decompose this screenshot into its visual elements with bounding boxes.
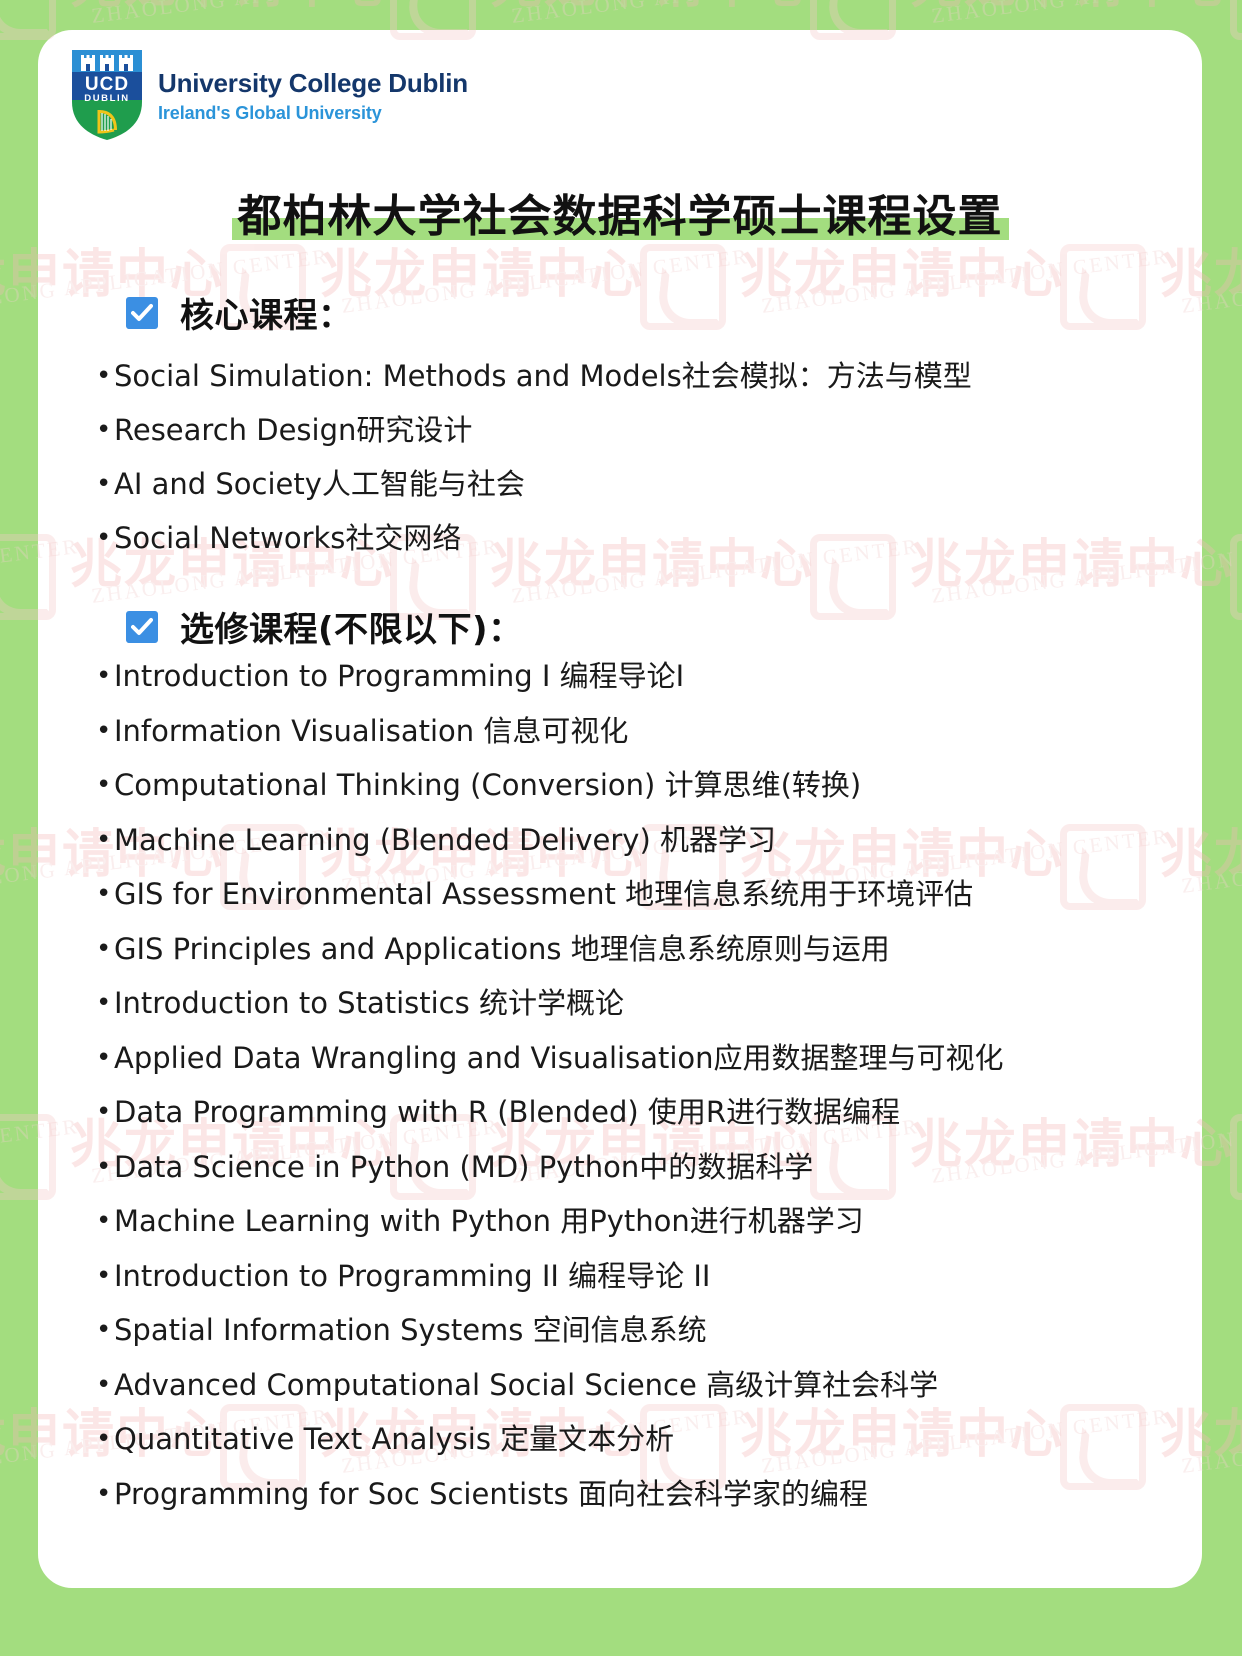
ucd-name-block: University College Dublin Ireland's Glob… xyxy=(158,63,468,125)
bullet-icon: • xyxy=(96,771,114,798)
list-item-label: Introduction to Statistics 统计学概论 xyxy=(114,989,1176,1018)
university-tagline: Ireland's Global University xyxy=(158,102,468,125)
list-item-label: Spatial Information Systems 空间信息系统 xyxy=(114,1316,1176,1345)
list-item-label: Social Simulation: Methods and Models社会模… xyxy=(114,362,1176,391)
watermark-logo-icon xyxy=(1230,1114,1242,1200)
list-item-label: Machine Learning (Blended Delivery) 机器学习 xyxy=(114,826,1176,855)
page-title-wrap: 都柏林大学社会数据科学硕士课程设置 xyxy=(38,190,1202,244)
list-item: •Social Networks社交网络 xyxy=(96,524,1176,578)
list-item-label: AI and Society人工智能与社会 xyxy=(114,470,1176,499)
bullet-icon: • xyxy=(96,1098,114,1125)
watermark-cn-text: 兆龙申请中心 xyxy=(490,0,814,17)
checkbox-checked-icon xyxy=(126,611,158,643)
list-item: •Introduction to Programming I 编程导论I xyxy=(96,662,1176,717)
bullet-icon: • xyxy=(96,416,114,443)
section-heading-core: 核心课程： xyxy=(126,288,353,337)
bullet-icon: • xyxy=(96,880,114,907)
ucd-branding: UCD DUBLIN University College Dublin Ire… xyxy=(70,46,468,142)
bullet-icon: • xyxy=(96,935,114,962)
list-item: •Programming for Soc Scientists 面向社会科学家的… xyxy=(96,1480,1176,1535)
bullet-icon: • xyxy=(96,362,114,389)
list-item: •Research Design研究设计 xyxy=(96,416,1176,470)
ucd-shield-logo-icon: UCD DUBLIN xyxy=(70,46,144,142)
watermark-en-text: ZHAOLONG APPLICATION CENTER xyxy=(90,0,500,29)
watermark-en-text: ZHAOLONG APPLICATION CENTER xyxy=(510,0,920,29)
bullet-icon: • xyxy=(96,470,114,497)
list-item: •Data Programming with R (Blended) 使用R进行… xyxy=(96,1098,1176,1153)
list-item: •GIS for Environmental Assessment 地理信息系统… xyxy=(96,880,1176,935)
watermark-tile: 兆龙申请中心ZHAOLONG APPLICATION CENTER xyxy=(1230,1100,1242,1230)
section-label-elective: 选修课程(不限以下)： xyxy=(180,602,523,651)
bullet-icon: • xyxy=(96,1153,114,1180)
list-item: •Computational Thinking (Conversion) 计算思… xyxy=(96,771,1176,826)
watermark-cn-text: 兆龙申请中心 xyxy=(910,0,1234,17)
watermark-en-text: ZHAOLONG APPLICATION CENTER xyxy=(0,0,80,29)
list-item: •Social Simulation: Methods and Models社会… xyxy=(96,362,1176,416)
list-item-label: Introduction to Programming I 编程导论I xyxy=(114,662,1176,691)
list-item-label: Computational Thinking (Conversion) 计算思维… xyxy=(114,771,1176,800)
list-item: •Quantitative Text Analysis 定量文本分析 xyxy=(96,1425,1176,1480)
list-item-label: GIS for Environmental Assessment 地理信息系统用… xyxy=(114,880,1176,909)
list-item: •Introduction to Statistics 统计学概论 xyxy=(96,989,1176,1044)
list-item-label: Data Programming with R (Blended) 使用R进行数… xyxy=(114,1098,1176,1127)
list-item: •Machine Learning (Blended Delivery) 机器学… xyxy=(96,826,1176,881)
list-item-label: Research Design研究设计 xyxy=(114,416,1176,445)
bullet-icon: • xyxy=(96,1316,114,1343)
bullet-icon: • xyxy=(96,1371,114,1398)
list-item-label: Advanced Computational Social Science 高级… xyxy=(114,1371,1176,1400)
watermark-tile: 兆龙申请中心ZHAOLONG APPLICATION CENTER xyxy=(1230,0,1242,70)
page-title: 都柏林大学社会数据科学硕士课程设置 xyxy=(232,190,1009,244)
bullet-icon: • xyxy=(96,1480,114,1507)
bullet-icon: • xyxy=(96,717,114,744)
svg-text:DUBLIN: DUBLIN xyxy=(84,93,130,104)
section-label-core: 核心课程： xyxy=(180,288,353,337)
course-list-core: •Social Simulation: Methods and Models社会… xyxy=(96,362,1176,578)
list-item-label: Data Science in Python (MD) Python中的数据科学 xyxy=(114,1153,1176,1182)
list-item-label: Machine Learning with Python 用Python进行机器… xyxy=(114,1207,1176,1236)
watermark-cn-text: 兆龙申请中心 xyxy=(70,0,394,17)
section-heading-elective: 选修课程(不限以下)： xyxy=(126,602,523,651)
list-item: •Introduction to Programming II 编程导论 II xyxy=(96,1262,1176,1317)
poster-content: UCD DUBLIN University College Dublin Ire… xyxy=(38,30,1202,1588)
svg-text:UCD: UCD xyxy=(85,74,129,95)
watermark-tile: 兆龙申请中心ZHAOLONG APPLICATION CENTER xyxy=(1230,520,1242,650)
bullet-icon: • xyxy=(96,524,114,551)
list-item: •AI and Society人工智能与社会 xyxy=(96,470,1176,524)
list-item-label: Information Visualisation 信息可视化 xyxy=(114,717,1176,746)
list-item: •Data Science in Python (MD) Python中的数据科… xyxy=(96,1153,1176,1208)
list-item-label: Quantitative Text Analysis 定量文本分析 xyxy=(114,1425,1176,1454)
list-item: •Machine Learning with Python 用Python进行机… xyxy=(96,1207,1176,1262)
bullet-icon: • xyxy=(96,989,114,1016)
course-list-elective: •Introduction to Programming I 编程导论I•Inf… xyxy=(96,662,1176,1534)
university-name: University College Dublin xyxy=(158,69,468,99)
watermark-logo-icon xyxy=(1230,0,1242,40)
list-item-label: Applied Data Wrangling and Visualisation… xyxy=(114,1044,1176,1073)
bullet-icon: • xyxy=(96,662,114,689)
list-item: •GIS Principles and Applications 地理信息系统原… xyxy=(96,935,1176,990)
watermark-en-text: ZHAOLONG APPLICATION CENTER xyxy=(930,0,1242,29)
list-item-label: Social Networks社交网络 xyxy=(114,524,1176,553)
bullet-icon: • xyxy=(96,826,114,853)
list-item-label: Programming for Soc Scientists 面向社会科学家的编… xyxy=(114,1480,1176,1509)
watermark-logo-icon xyxy=(1230,534,1242,620)
bullet-icon: • xyxy=(96,1262,114,1289)
list-item: •Spatial Information Systems 空间信息系统 xyxy=(96,1316,1176,1371)
checkbox-checked-icon xyxy=(126,297,158,329)
list-item-label: GIS Principles and Applications 地理信息系统原则… xyxy=(114,935,1176,964)
list-item: •Applied Data Wrangling and Visualisatio… xyxy=(96,1044,1176,1099)
list-item: •Advanced Computational Social Science 高… xyxy=(96,1371,1176,1426)
page-title-text: 都柏林大学社会数据科学硕士课程设置 xyxy=(238,191,1003,242)
list-item-label: Introduction to Programming II 编程导论 II xyxy=(114,1262,1176,1291)
bullet-icon: • xyxy=(96,1425,114,1452)
list-item: •Information Visualisation 信息可视化 xyxy=(96,717,1176,772)
bullet-icon: • xyxy=(96,1044,114,1071)
bullet-icon: • xyxy=(96,1207,114,1234)
